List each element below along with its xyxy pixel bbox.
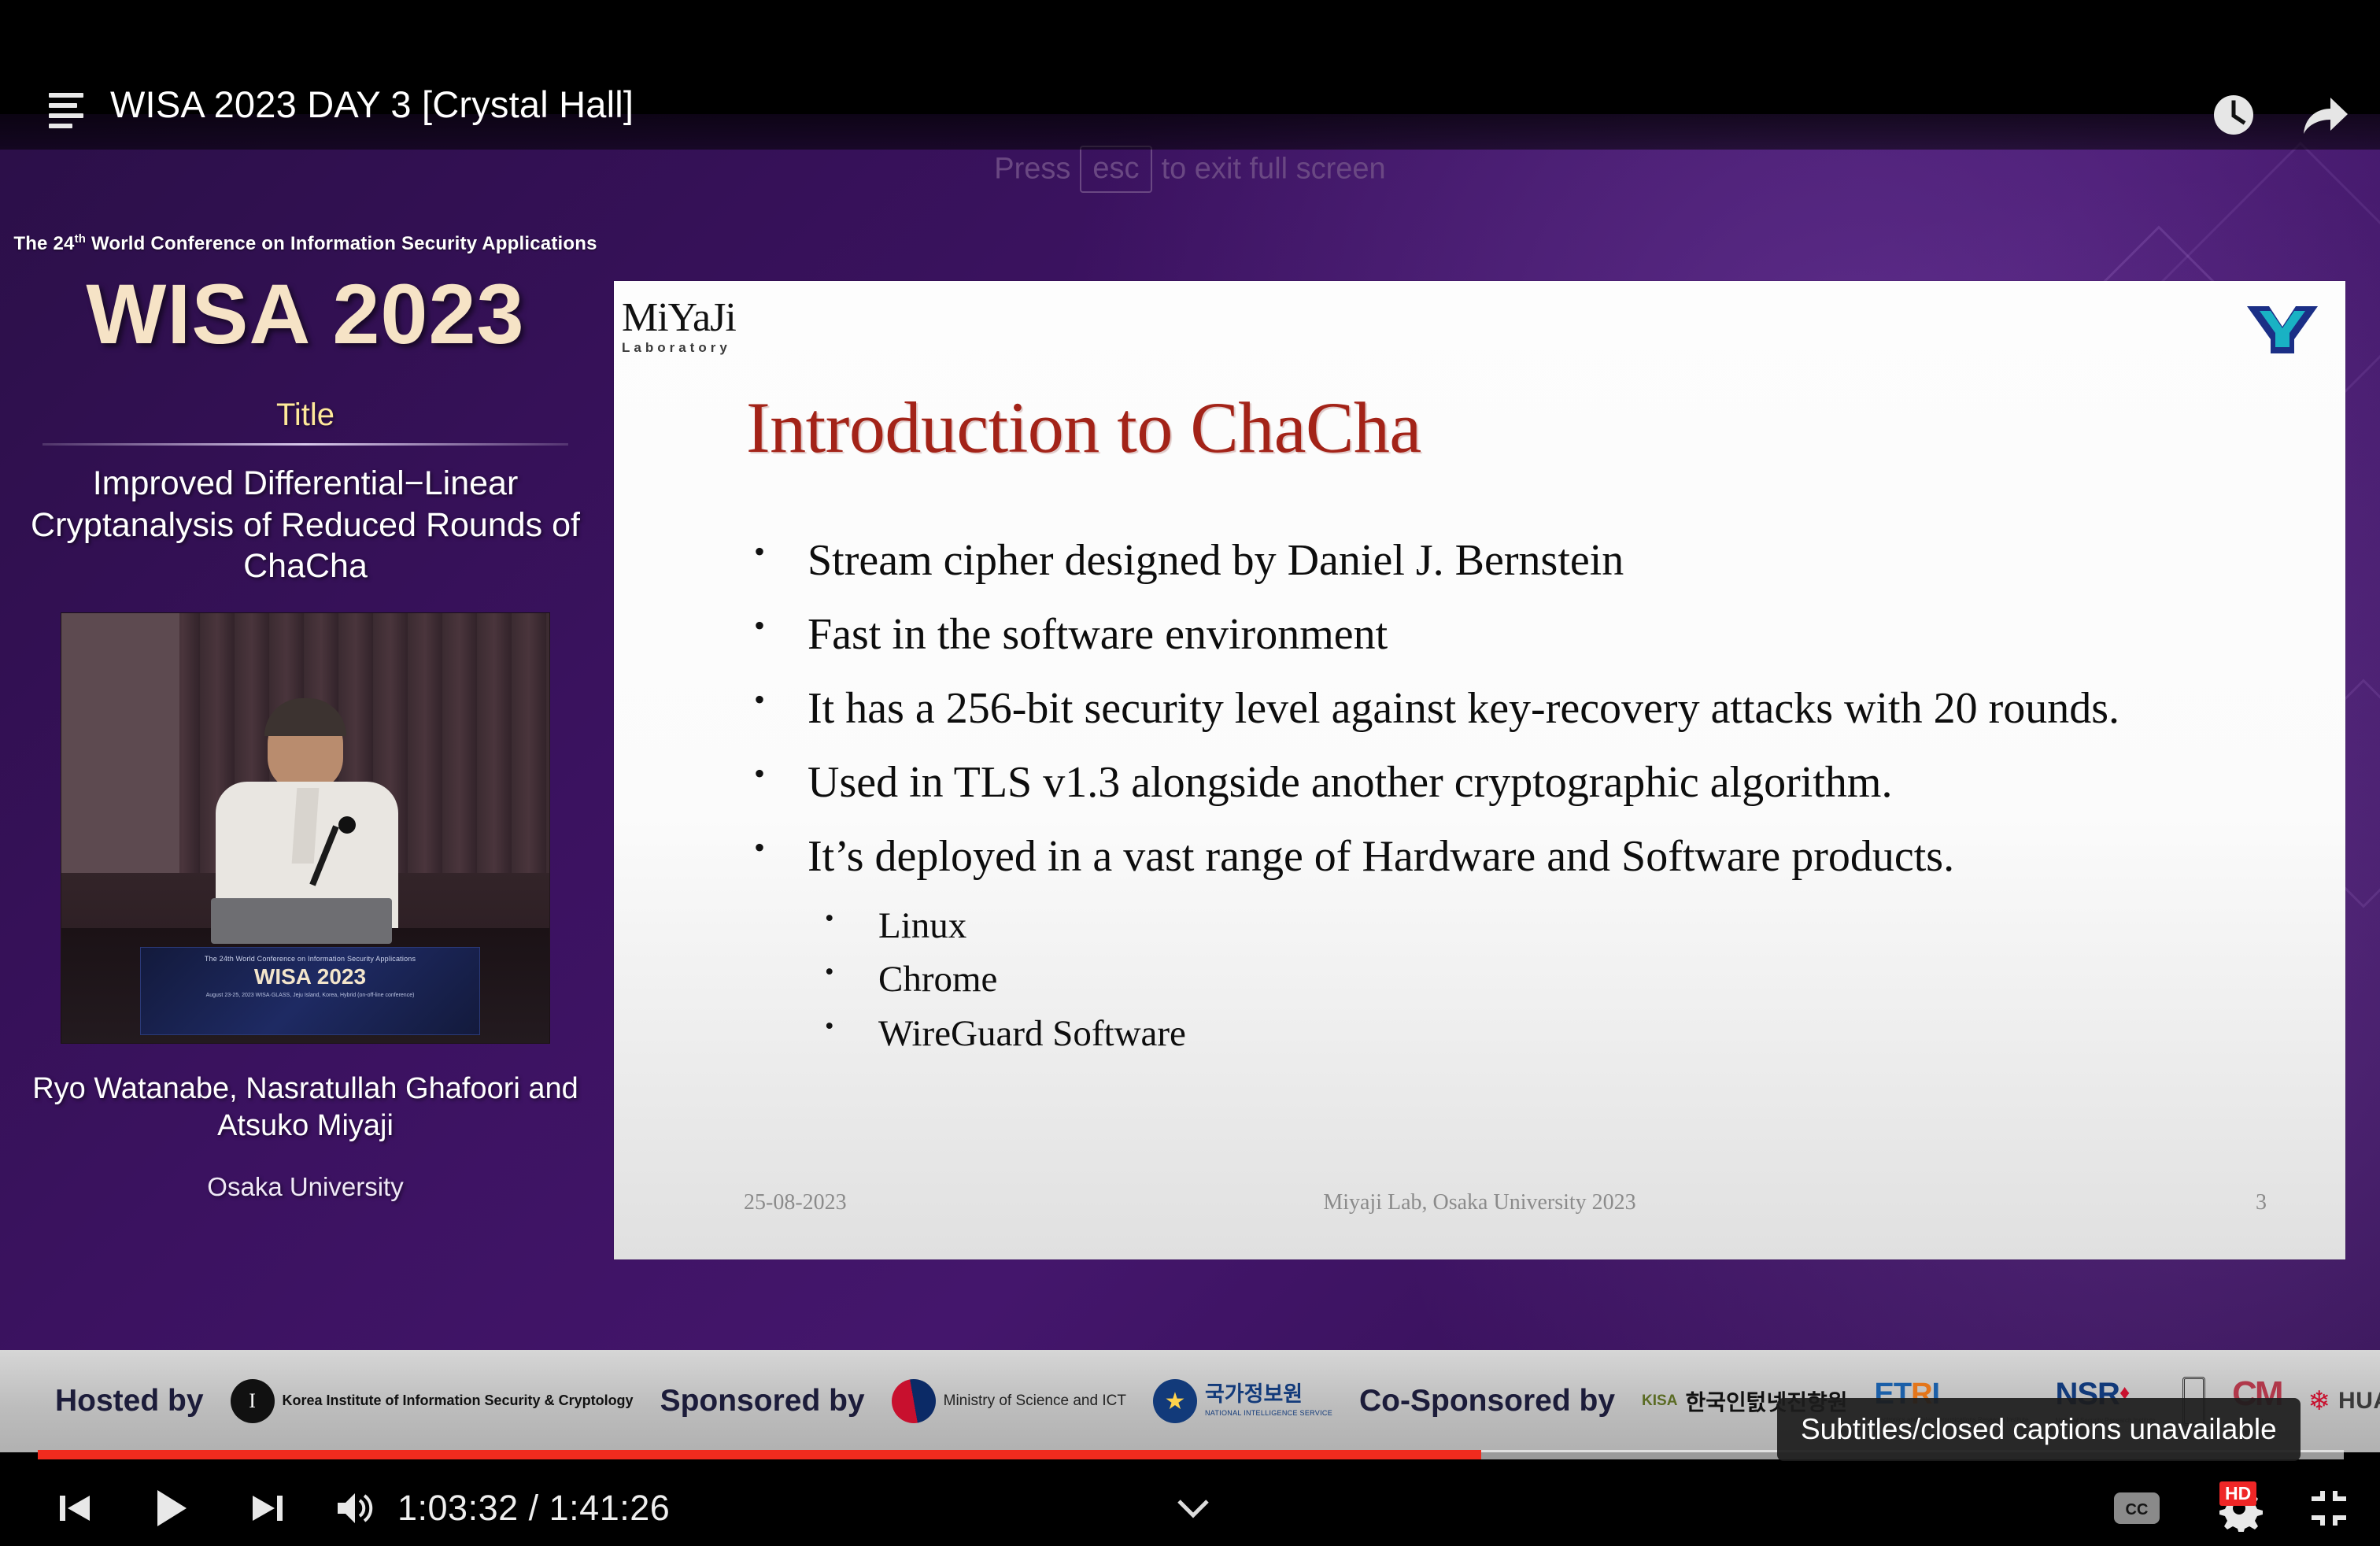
sponsor-logo-msit: Ministry of Science and ICT — [892, 1379, 1126, 1423]
sponsor-logo-huawei: ❄ HUAWEI — [2308, 1385, 2380, 1417]
sponsored-by-label: Sponsored by — [660, 1384, 865, 1418]
author-list: Ryo Watanabe, Nasratullah Ghafoori and A… — [31, 1071, 579, 1145]
closed-captions-icon[interactable]: CC — [2103, 1470, 2171, 1546]
slide-bullet-list: Stream cipher designed by Daniel J. Bern… — [746, 535, 2265, 1067]
bullet-item: It’s deployed in a vast range of Hardwar… — [746, 831, 2265, 882]
conference-poster-panel: The 24th World Conference on Information… — [0, 197, 611, 1346]
slide-title: Introduction to ChaCha — [746, 386, 1421, 469]
huawei-petal-icon: ❄ — [2308, 1385, 2331, 1417]
photo-microphone-head — [338, 816, 356, 834]
poster-divider — [42, 443, 568, 446]
progress-played — [38, 1450, 1481, 1459]
exit-fullscreen-hint: Pressescto exit full screen — [0, 146, 2380, 193]
sub-bullet-item: WireGuard Software — [746, 1013, 2265, 1056]
sponsor-logo-msit-text: Ministry of Science and ICT — [944, 1393, 1126, 1410]
sub-bullet-item: Chrome — [746, 959, 2265, 1001]
conference-subtitle-suffix: World Conference on Information Security… — [86, 233, 597, 254]
sponsor-logo-nis-subtext: NATIONAL INTELLIGENCE SERVICE — [1205, 1409, 1332, 1417]
miyaji-logo-text: MiYaJi — [622, 298, 826, 338]
miyaji-laboratory-logo: MiYaJi Laboratory — [622, 298, 826, 356]
banner-line-1: The 24th World Conference on Information… — [141, 955, 479, 963]
video-title[interactable]: WISA 2023 DAY 3 [Crystal Hall] — [110, 83, 634, 126]
hd-quality-badge: HD — [2219, 1481, 2256, 1506]
hamburger-icon[interactable] — [49, 93, 83, 124]
sub-bullet-item: Linux — [746, 905, 2265, 948]
university-emblem-icon — [2239, 295, 2326, 371]
speaker-photo: The 24th World Conference on Information… — [61, 612, 550, 1044]
svg-text:CC: CC — [2126, 1501, 2149, 1518]
banner-line-3: August 23-25, 2023 WISA·GLASS, Jeju Isla… — [141, 993, 479, 998]
exit-fullscreen-icon[interactable] — [2295, 1470, 2363, 1546]
share-arrow-icon[interactable] — [2302, 94, 2349, 135]
sponsor-logo-huawei-text: HUAWEI — [2338, 1388, 2380, 1415]
banner-line-2: WISA 2023 — [141, 964, 479, 989]
cosponsored-by-label: Co-Sponsored by — [1359, 1384, 1615, 1418]
nis-emblem-icon: ★ — [1153, 1379, 1197, 1423]
time-display: 1:03:32 / 1:41:26 — [397, 1470, 670, 1546]
sponsor-logo-nis: ★ 국가정보원 NATIONAL INTELLIGENCE SERVICE — [1153, 1379, 1332, 1423]
kiisc-emblem-icon: I — [231, 1379, 275, 1423]
photo-event-banner: The 24th World Conference on Information… — [140, 947, 480, 1035]
player-control-bar: 1:03:32 / 1:41:26 CC HD — [0, 1470, 2380, 1546]
exit-hint-suffix: to exit full screen — [1162, 153, 1386, 186]
taeguk-icon — [892, 1379, 936, 1423]
slide-footer-credit: Miyaji Lab, Osaka University 2023 — [614, 1190, 2345, 1215]
clock-icon[interactable] — [2212, 93, 2256, 137]
exit-hint-prefix: Press — [994, 153, 1070, 186]
wisa-wordmark: WISA 2023 — [0, 269, 611, 358]
slide-page-number: 3 — [2256, 1190, 2267, 1215]
video-player: The 24th World Conference on Information… — [0, 0, 2380, 1546]
bullet-item: It has a 256-bit security level against … — [746, 683, 2265, 734]
bullet-item: Fast in the software environment — [746, 609, 2265, 660]
sponsor-logo-kisa-mark: KISA — [1642, 1393, 1677, 1410]
chevron-down-icon[interactable] — [1163, 1470, 1223, 1546]
photo-wall — [61, 613, 179, 873]
conference-subtitle-ordinal: th — [75, 232, 87, 246]
next-track-icon[interactable] — [236, 1470, 299, 1546]
play-icon[interactable] — [138, 1470, 205, 1546]
poster-title-label: Title — [0, 398, 611, 433]
miyaji-logo-subtext: Laboratory — [622, 340, 826, 356]
gear-icon[interactable]: HD — [2196, 1470, 2282, 1546]
video-stage[interactable]: The 24th World Conference on Information… — [0, 0, 2380, 1546]
photo-laptop — [211, 898, 392, 944]
previous-track-icon[interactable] — [43, 1470, 106, 1546]
player-top-bar: WISA 2023 DAY 3 [Crystal Hall] — [0, 0, 2380, 150]
esc-key-badge: esc — [1080, 146, 1151, 193]
captions-unavailable-tooltip: Subtitles/closed captions unavailable — [1777, 1398, 2301, 1461]
volume-icon[interactable] — [321, 1470, 389, 1546]
bullet-item: Stream cipher designed by Daniel J. Bern… — [746, 535, 2265, 586]
conference-subtitle: The 24th World Conference on Information… — [0, 232, 611, 255]
conference-subtitle-prefix: The 24 — [13, 233, 74, 254]
bullet-item: Used in TLS v1.3 alongside another crypt… — [746, 757, 2265, 808]
hosted-by-label: Hosted by — [55, 1384, 204, 1418]
university-emblem — [2239, 295, 2326, 371]
affiliation: Osaka University — [0, 1172, 611, 1202]
sponsor-logo-kiisc: I Korea Institute of Information Securit… — [231, 1379, 634, 1423]
sponsor-logo-kiisc-text: Korea Institute of Information Security … — [283, 1393, 634, 1410]
sponsor-logo-nis-text: 국가정보원 — [1205, 1382, 1303, 1406]
slide-footer: 25-08-2023 Miyaji Lab, Osaka University … — [614, 1190, 2345, 1237]
paper-title: Improved Differential−Linear Cryptanalys… — [25, 463, 586, 586]
